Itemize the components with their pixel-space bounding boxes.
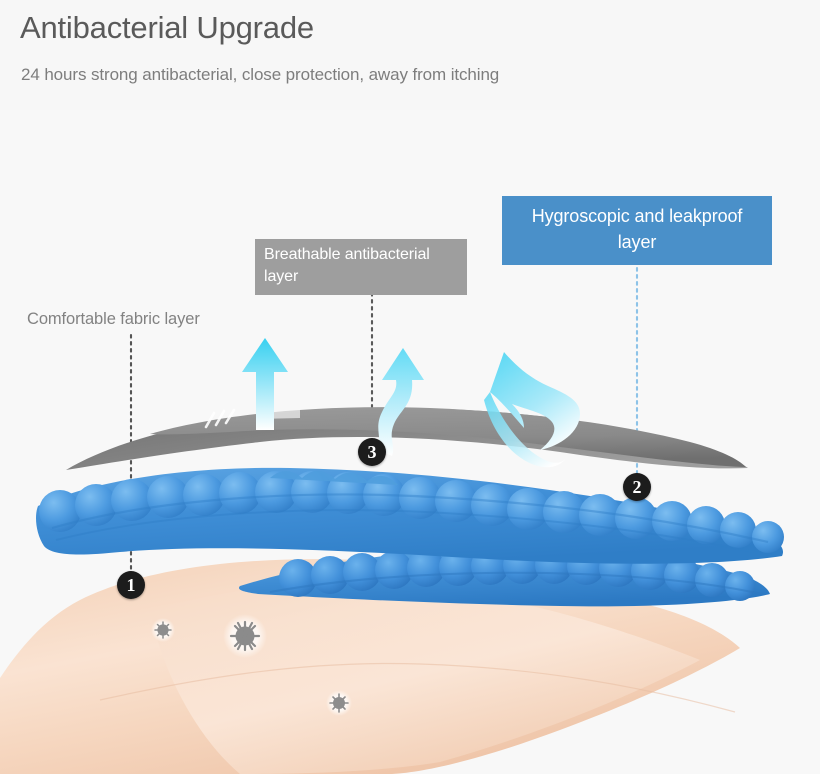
layer-diagram-illustration [0, 0, 820, 774]
upper-blue-bead-layer [36, 468, 784, 564]
infographic-page: Antibacterial Upgrade 24 hours strong an… [0, 0, 820, 774]
germ-icon-2 [223, 614, 267, 658]
wavy-up-arrow [378, 348, 424, 456]
marker-badge-3: 3 [358, 438, 386, 466]
diagram-svg [0, 0, 820, 774]
marker-badge-1: 1 [117, 571, 145, 599]
germ-icon-1 [151, 618, 175, 642]
marker-badge-2: 2 [623, 473, 651, 501]
callout-comfortable-fabric-layer: Comfortable fabric layer [27, 308, 200, 331]
callout-breathable-antibacterial-layer: Breathable antibacterial layer [255, 239, 467, 295]
top-gray-fabric-layer [66, 407, 748, 470]
germ-icon-3 [326, 690, 352, 716]
callout-hygroscopic-leakproof-layer: Hygroscopic and leakproof layer [502, 196, 772, 265]
